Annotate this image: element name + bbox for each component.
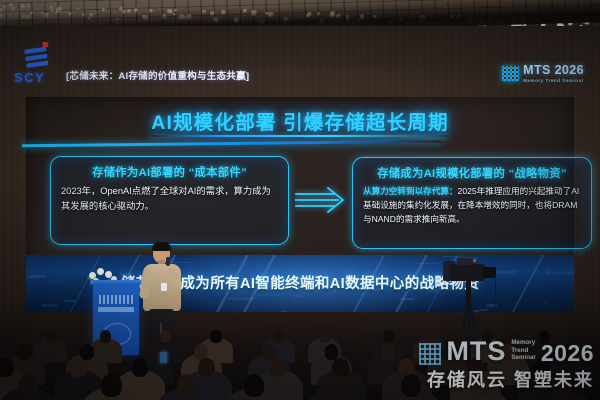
mts-header-name: MTS 2026 xyxy=(523,64,584,77)
podium-logo-mark xyxy=(99,295,133,304)
audience-member-head xyxy=(101,374,121,397)
audience-member-head xyxy=(18,374,38,397)
camera-record-light xyxy=(473,259,476,262)
microphone xyxy=(166,257,170,266)
audience-member-head xyxy=(325,344,339,360)
overlay-seminar-text: Memory Trend Seminar xyxy=(511,339,535,362)
audience-member-head xyxy=(45,330,56,343)
mts-header-tagline: Memory Trend Seminar xyxy=(523,78,584,83)
audience-member-head xyxy=(132,358,149,377)
camera-viewfinder xyxy=(483,267,496,278)
audience-member-head xyxy=(70,358,87,377)
audience-member-head xyxy=(244,374,264,397)
audience-member-head xyxy=(160,330,171,343)
mts-dot-matrix-icon xyxy=(502,66,519,81)
podium-logo-text xyxy=(98,307,134,312)
content-box-left: 存储作为AI部署的 “成本部件” 2023年，OpenAI点燃了全球对AI的需求… xyxy=(50,156,289,245)
audience-member-head xyxy=(262,344,276,360)
audience-member-head xyxy=(269,358,286,377)
mts-header-logo: MTS 2026 Memory Trend Seminar xyxy=(502,64,584,83)
content-box-right-body: 从算力空转到以存代算：2025年推理应用的兴起推动了AI基础设施的集约化发展，在… xyxy=(363,185,582,227)
audience-member-head xyxy=(198,358,215,377)
audience-member-head xyxy=(319,330,330,343)
conference-photo: SCY [芯储未来：AI存储的价值重构与生态共赢] MTS 2026 Memor… xyxy=(0,0,600,400)
overlay-dot-matrix-icon xyxy=(419,343,441,365)
audience-member-head xyxy=(0,358,14,377)
overlay-seminar-line3: Seminar xyxy=(511,354,535,362)
event-branding-overlay: MTS Memory Trend Seminar 2026 存储风云 智塑未来 xyxy=(419,339,594,392)
speaker-hair xyxy=(152,242,171,251)
overlay-seminar-line2: Trend xyxy=(511,347,535,355)
slide-title: AI规模化部署 引爆存储超长周期 xyxy=(26,106,574,135)
camera-cable xyxy=(477,278,496,325)
audience-member-head xyxy=(273,330,284,343)
content-box-right-heading: 存储成为AI规模化部署的 “战略物资” xyxy=(353,165,591,181)
audience-member-head xyxy=(381,344,395,360)
audience-member-head xyxy=(100,330,111,343)
overlay-year-text: 2026 xyxy=(541,343,594,365)
overlay-mts-text: MTS xyxy=(446,339,506,365)
content-box-right-body-highlight: 从算力空转到以存代算： xyxy=(363,186,458,196)
audience-member-head xyxy=(80,344,94,360)
audience-member-head xyxy=(326,374,346,397)
audience-phone xyxy=(160,352,167,363)
scy-logo-text: SCY xyxy=(14,70,45,85)
title-underline xyxy=(150,135,450,137)
audience-member-head xyxy=(145,344,159,360)
content-box-left-body: 2023年，OpenAI点燃了全球对AI的需求，算力成为其发展的核心驱动力。 xyxy=(61,184,279,215)
audience-member-head xyxy=(383,330,394,343)
audience-member-head xyxy=(401,374,421,397)
overlay-slogan: 存储风云 智塑未来 xyxy=(419,366,594,392)
camera-mount xyxy=(466,281,471,303)
arrow-right-icon xyxy=(294,185,346,215)
overlay-seminar-line1: Memory xyxy=(511,339,535,347)
audience-member-head xyxy=(177,374,197,397)
camera-handle xyxy=(457,258,473,265)
banner-subtitle: [芯储未来：AI存储的价值重构与生态共赢] xyxy=(66,68,249,82)
audience-member-head xyxy=(18,344,32,360)
content-box-right: 存储成为AI规模化部署的 “战略物资” 从算力空转到以存代算：2025年推理应用… xyxy=(352,157,592,249)
audience-member-head xyxy=(210,330,221,343)
content-box-left-heading: 存储作为AI部署的 “成本部件” xyxy=(51,164,288,180)
speaker-badge xyxy=(161,283,167,291)
